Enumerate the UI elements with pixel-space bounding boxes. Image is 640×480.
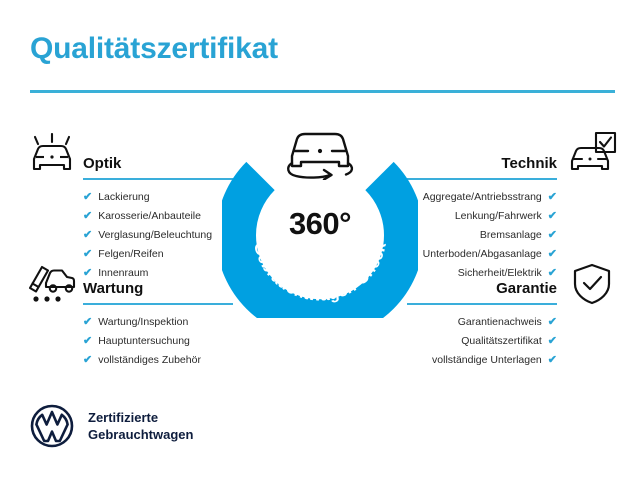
section-divider-optik xyxy=(83,178,233,180)
check-icon: ✔ xyxy=(548,317,557,328)
checklist-technik: Aggregate/Antriebsstrang ✔ Lenkung/Fahrw… xyxy=(407,189,557,281)
list-item: Lenkung/Fahrwerk ✔ xyxy=(407,208,557,224)
list-item: ✔ Wartung/Inspektion xyxy=(83,314,233,330)
list-item: ✔ Karosserie/Anbauteile xyxy=(83,208,233,224)
check-icon: ✔ xyxy=(83,230,92,241)
check-icon: ✔ xyxy=(548,211,557,222)
section-wartung: Wartung ✔ Wartung/Inspektion ✔ Hauptunte… xyxy=(83,271,233,371)
section-garantie: Garantie Garantienachweis ✔ Qualitätszer… xyxy=(407,271,557,371)
list-item: Bremsanlage ✔ xyxy=(407,227,557,243)
title-divider xyxy=(30,90,615,93)
check-icon: ✔ xyxy=(83,192,92,203)
section-optik: Optik ✔ Lackierung ✔ Karosserie/Anbautei… xyxy=(83,146,233,284)
check-icon: ✔ xyxy=(548,230,557,241)
section-divider-wartung xyxy=(83,303,233,305)
car-rotation-icon xyxy=(278,122,362,180)
checklist-wartung: ✔ Wartung/Inspektion ✔ Hauptuntersuchung… xyxy=(83,314,233,368)
list-item-label: vollständige Unterlagen xyxy=(432,352,542,368)
check-icon: ✔ xyxy=(548,336,557,347)
check-icon: ✔ xyxy=(83,317,92,328)
list-item-label: Lackierung xyxy=(98,189,149,205)
section-divider-technik xyxy=(407,178,557,180)
car-checkbox-icon xyxy=(566,131,618,175)
page-title: Qualitätszertifikat xyxy=(30,32,278,66)
check-icon: ✔ xyxy=(83,249,92,260)
check-icon: ✔ xyxy=(83,336,92,347)
list-item: vollständige Unterlagen ✔ xyxy=(407,352,557,368)
list-item-label: Verglasung/Beleuchtung xyxy=(98,227,212,243)
check-icon: ✔ xyxy=(548,355,557,366)
list-item-label: Garantienachweis xyxy=(458,314,542,330)
list-item: ✔ vollständiges Zubehör xyxy=(83,352,233,368)
checklist-garantie: Garantienachweis ✔ Qualitätszertifikat ✔… xyxy=(407,314,557,368)
car-shine-icon xyxy=(26,133,78,177)
check-icon: ✔ xyxy=(83,355,92,366)
badge-center-label: 360° xyxy=(222,206,418,242)
section-title-wartung: Wartung xyxy=(83,280,143,297)
list-item: Garantienachweis ✔ xyxy=(407,314,557,330)
list-item-label: Hauptuntersuchung xyxy=(98,333,190,349)
list-item-label: vollständiges Zubehör xyxy=(98,352,201,368)
section-title-technik: Technik xyxy=(501,155,557,172)
list-item: ✔ Verglasung/Beleuchtung xyxy=(83,227,233,243)
list-item-label: Karosserie/Anbauteile xyxy=(98,208,201,224)
list-item: ✔ Felgen/Reifen xyxy=(83,246,233,262)
check-icon: ✔ xyxy=(83,211,92,222)
list-item-label: Aggregate/Antriebsstrang xyxy=(423,189,542,205)
list-item: Qualitätszertifikat ✔ xyxy=(407,333,557,349)
shield-check-icon xyxy=(570,262,622,306)
list-item-label: Lenkung/Fahrwerk xyxy=(455,208,542,224)
list-item-label: Wartung/Inspektion xyxy=(98,314,188,330)
footer-line-2: Gebrauchtwagen xyxy=(88,426,193,443)
list-item: ✔ Hauptuntersuchung xyxy=(83,333,233,349)
360-check-badge: Gebrauchtwagen-Check 360° xyxy=(222,150,418,318)
checklist-optik: ✔ Lackierung ✔ Karosserie/Anbauteile ✔ V… xyxy=(83,189,233,281)
section-title-optik: Optik xyxy=(83,155,121,172)
list-item: Aggregate/Antriebsstrang ✔ xyxy=(407,189,557,205)
footer-brand: Zertifizierte Gebrauchtwagen xyxy=(30,404,193,448)
check-icon: ✔ xyxy=(548,249,557,260)
volkswagen-logo xyxy=(30,404,74,448)
list-item: Unterboden/Abgasanlage ✔ xyxy=(407,246,557,262)
list-item-label: Bremsanlage xyxy=(480,227,542,243)
list-item-label: Unterboden/Abgasanlage xyxy=(423,246,542,262)
pencil-car-icon xyxy=(26,261,78,305)
footer-line-1: Zertifizierte xyxy=(88,409,193,426)
list-item: ✔ Lackierung xyxy=(83,189,233,205)
list-item-label: Qualitätszertifikat xyxy=(461,333,542,349)
section-divider-garantie xyxy=(407,303,557,305)
section-title-garantie: Garantie xyxy=(496,280,557,297)
list-item-label: Felgen/Reifen xyxy=(98,246,163,262)
check-icon: ✔ xyxy=(548,192,557,203)
section-technik: Technik Aggregate/Antriebsstrang ✔ Lenku… xyxy=(407,146,557,284)
